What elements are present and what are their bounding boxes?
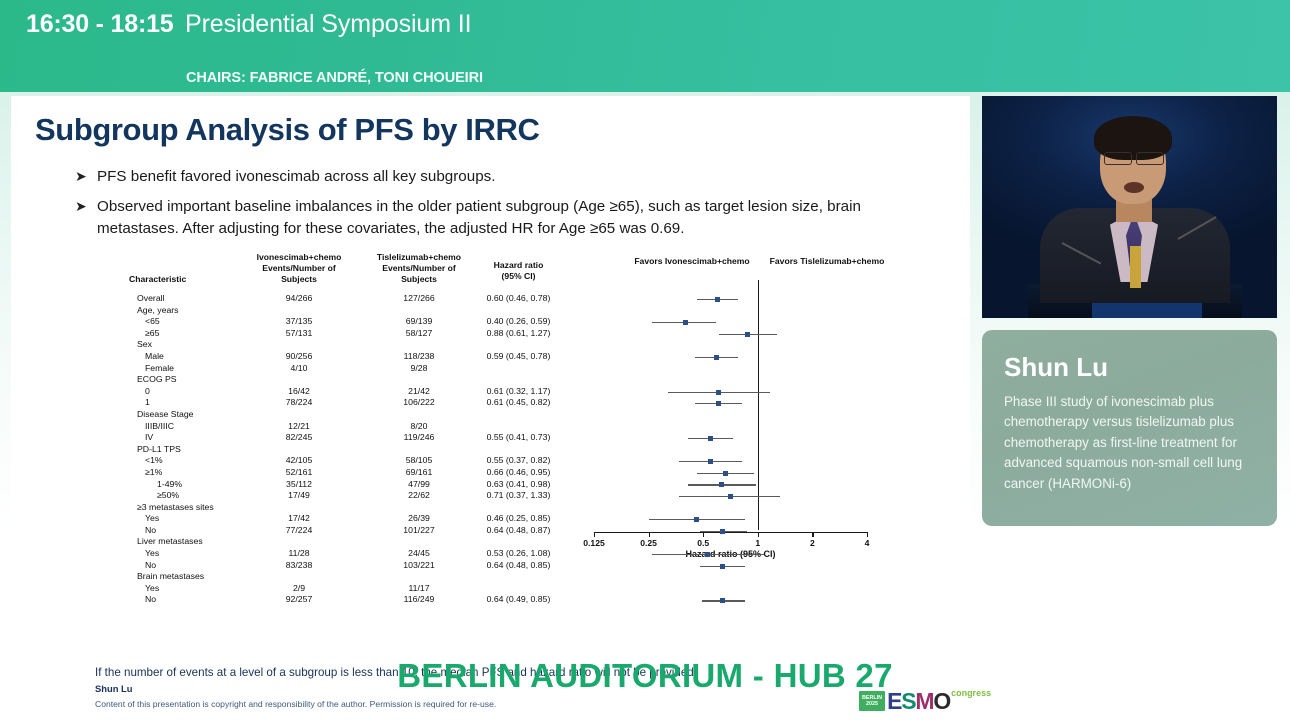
row-tislelizumab-events: 69/161 (359, 467, 479, 477)
row-tislelizumab-events: 118/238 (359, 351, 479, 361)
row-characteristic: <1% (145, 455, 163, 465)
x-axis-tick (867, 532, 868, 537)
slide-bullet-1: ➤ PFS benefit favored ivonescimab across… (97, 166, 937, 188)
table-row: No92/257116/2490.64 (0.49, 0.85) (11, 594, 970, 606)
row-ivonescimab-events: 94/266 (239, 293, 359, 303)
hazard-ratio-point (728, 494, 733, 499)
row-tislelizumab-events: 58/127 (359, 328, 479, 338)
row-hazard-ratio: 0.64 (0.48, 0.87) (466, 525, 571, 535)
row-tislelizumab-events: 22/62 (359, 490, 479, 500)
row-tislelizumab-events: 127/266 (359, 293, 479, 303)
row-tislelizumab-events: 116/249 (359, 594, 479, 604)
row-ivonescimab-events: 52/161 (239, 467, 359, 477)
row-hazard-ratio: 0.60 (0.46, 0.78) (466, 293, 571, 303)
row-characteristic: PD-L1 TPS (137, 444, 181, 454)
speaker-glasses-right (1136, 152, 1164, 165)
row-ivonescimab-events: 90/256 (239, 351, 359, 361)
row-characteristic: ≥1% (145, 467, 162, 477)
x-axis (594, 532, 867, 533)
row-tislelizumab-events: 103/221 (359, 560, 479, 570)
row-hazard-ratio: 0.55 (0.37, 0.82) (466, 455, 571, 465)
row-tislelizumab-events: 69/139 (359, 316, 479, 326)
row-hazard-ratio: 0.53 (0.26, 1.08) (466, 548, 571, 558)
row-characteristic: Female (145, 363, 174, 373)
row-characteristic: Sex (137, 339, 152, 349)
row-hazard-ratio: 0.71 (0.37, 1.33) (466, 490, 571, 500)
x-axis-tick-label: 2 (810, 538, 815, 548)
x-axis-tick-label: 1 (755, 538, 760, 548)
hazard-ratio-point (720, 529, 725, 534)
row-characteristic: 0 (145, 386, 150, 396)
session-header: 16:30 - 18:15 Presidential Symposium II … (0, 0, 1290, 92)
row-hazard-ratio: 0.88 (0.61, 1.27) (466, 328, 571, 338)
speaker-glasses-left (1104, 152, 1132, 165)
bullet-text: PFS benefit favored ivonescimab across a… (97, 168, 495, 185)
row-ivonescimab-events: 92/257 (239, 594, 359, 604)
row-characteristic: Disease Stage (137, 409, 194, 419)
favors-right-label: Favors Tislelizumab+chemo (747, 256, 907, 266)
row-ivonescimab-events: 4/10 (239, 363, 359, 373)
hazard-ratio-point (705, 552, 710, 557)
row-characteristic: <65 (145, 316, 160, 326)
col-header-ivonescimab: Ivonescimab+chemo Events/Number of Subje… (239, 252, 359, 285)
forest-table-header: Characteristic Ivonescimab+chemo Events/… (11, 252, 571, 292)
hazard-ratio-point (720, 598, 725, 603)
row-characteristic: 1-49% (157, 479, 182, 489)
row-hazard-ratio: 0.64 (0.49, 0.85) (466, 594, 571, 604)
speaker-talk-description: Phase III study of ivonescimab plus chem… (1004, 392, 1255, 494)
row-tislelizumab-events: 101/227 (359, 525, 479, 535)
row-ivonescimab-events: 42/105 (239, 455, 359, 465)
row-hazard-ratio: 0.64 (0.48, 0.85) (466, 560, 571, 570)
row-tislelizumab-events: 11/17 (359, 583, 479, 593)
row-tislelizumab-events: 21/42 (359, 386, 479, 396)
x-axis-tick-label: 4 (865, 538, 870, 548)
hazard-ratio-point (708, 436, 713, 441)
row-ivonescimab-events: 82/245 (239, 432, 359, 442)
forest-plot-figure: Characteristic Ivonescimab+chemo Events/… (11, 252, 970, 562)
col-header-tislelizumab: Tislelizumab+chemo Events/Number of Subj… (359, 252, 479, 285)
col-header-hazard-ratio: Hazard ratio (95% CI) (466, 260, 571, 282)
row-characteristic: No (145, 594, 156, 604)
row-hazard-ratio: 0.66 (0.46, 0.95) (466, 467, 571, 477)
speaker-info-card: Shun Lu Phase III study of ivonescimab p… (982, 330, 1277, 526)
row-characteristic: 1 (145, 397, 150, 407)
venue-banner: BERLIN AUDITORIUM - HUB 27 (0, 645, 1290, 707)
row-ivonescimab-events: 37/135 (239, 316, 359, 326)
podium-screen-shape (1092, 302, 1202, 318)
speaker-name: Shun Lu (1004, 352, 1255, 383)
favors-left-label: Favors Ivonescimab+chemo (617, 256, 767, 266)
row-ivonescimab-events: 57/131 (239, 328, 359, 338)
row-characteristic: No (145, 560, 156, 570)
reference-line (758, 280, 760, 530)
table-row: Yes2/911/17 (11, 583, 970, 595)
row-tislelizumab-events: 47/99 (359, 479, 479, 489)
bullet-text: Observed important baseline imbalances i… (97, 198, 861, 237)
row-hazard-ratio: 0.61 (0.32, 1.17) (466, 386, 571, 396)
row-characteristic: Male (145, 351, 164, 361)
row-tislelizumab-events: 8/20 (359, 421, 479, 431)
row-tislelizumab-events: 26/39 (359, 513, 479, 523)
row-ivonescimab-events: 12/21 (239, 421, 359, 431)
row-ivonescimab-events: 35/112 (239, 479, 359, 489)
row-characteristic: Overall (137, 293, 165, 303)
venue-name: BERLIN AUDITORIUM - HUB 27 (397, 657, 892, 695)
row-characteristic: Yes (145, 583, 159, 593)
forest-plot-axes: Hazard ratio (95% CI) 0.1250.250.5124 (594, 280, 867, 542)
row-characteristic: Liver metastases (137, 536, 203, 546)
row-hazard-ratio: 0.63 (0.41, 0.98) (466, 479, 571, 489)
row-hazard-ratio: 0.55 (0.41, 0.73) (466, 432, 571, 442)
row-hazard-ratio: 0.59 (0.45, 0.78) (466, 351, 571, 361)
hazard-ratio-point (723, 471, 728, 476)
row-characteristic: Yes (145, 513, 159, 523)
hazard-ratio-point (714, 355, 719, 360)
hazard-ratio-point (694, 517, 699, 522)
row-tislelizumab-events: 106/222 (359, 397, 479, 407)
row-characteristic: ECOG PS (137, 374, 177, 384)
x-axis-tick (703, 532, 704, 537)
speaker-mouth-shape (1124, 182, 1144, 193)
table-row: Brain metastases (11, 571, 970, 583)
speaker-lanyard-shape (1130, 246, 1141, 288)
x-axis-tick-label: 0.5 (697, 538, 709, 548)
hazard-ratio-point (745, 332, 750, 337)
x-axis-tick (594, 532, 595, 537)
x-axis-tick (812, 532, 813, 537)
row-ivonescimab-events: 16/42 (239, 386, 359, 396)
row-ivonescimab-events: 78/224 (239, 397, 359, 407)
hazard-ratio-point (720, 564, 725, 569)
row-characteristic: IV (145, 432, 153, 442)
row-characteristic: Brain metastases (137, 571, 204, 581)
slide-bullet-2: ➤ Observed important baseline imbalances… (97, 196, 942, 239)
col-header-characteristic: Characteristic (129, 274, 239, 285)
x-axis-tick-label: 0.125 (583, 538, 605, 548)
hazard-ratio-point (683, 320, 688, 325)
row-ivonescimab-events: 17/42 (239, 513, 359, 523)
x-axis-tick (758, 532, 759, 537)
row-ivonescimab-events: 83/238 (239, 560, 359, 570)
row-hazard-ratio: 0.46 (0.25, 0.85) (466, 513, 571, 523)
row-ivonescimab-events: 11/28 (239, 548, 359, 558)
row-hazard-ratio: 0.40 (0.26, 0.59) (466, 316, 571, 326)
hazard-ratio-point (719, 482, 724, 487)
row-characteristic: IIIB/IIIC (145, 421, 174, 431)
row-characteristic: Age, years (137, 305, 179, 315)
session-chairs: CHAIRS: FABRICE ANDRÉ, TONI CHOUEIRI (186, 70, 483, 86)
hazard-ratio-point (715, 297, 720, 302)
x-axis-tick (649, 532, 650, 537)
speaker-video[interactable] (982, 96, 1277, 318)
bullet-arrow-icon: ➤ (75, 167, 87, 187)
row-characteristic: No (145, 525, 156, 535)
row-tislelizumab-events: 58/105 (359, 455, 479, 465)
row-ivonescimab-events: 17/49 (239, 490, 359, 500)
row-ivonescimab-events: 77/224 (239, 525, 359, 535)
row-characteristic: Yes (145, 548, 159, 558)
session-title: Presidential Symposium II (185, 10, 472, 39)
hazard-ratio-point (716, 390, 721, 395)
table-row: No83/238103/2210.64 (0.48, 0.85) (11, 560, 970, 572)
row-hazard-ratio: 0.61 (0.45, 0.82) (466, 397, 571, 407)
hazard-ratio-point (716, 401, 721, 406)
row-characteristic: ≥3 metastases sites (137, 502, 214, 512)
row-tislelizumab-events: 24/45 (359, 548, 479, 558)
presentation-slide: Subgroup Analysis of PFS by IRRC ➤ PFS b… (11, 96, 970, 638)
row-characteristic: ≥65 (145, 328, 159, 338)
row-characteristic: ≥50% (157, 490, 179, 500)
row-ivonescimab-events: 2/9 (239, 583, 359, 593)
row-tislelizumab-events: 119/246 (359, 432, 479, 442)
bullet-arrow-icon: ➤ (75, 197, 87, 217)
session-time: 16:30 - 18:15 (26, 10, 174, 39)
slide-title: Subgroup Analysis of PFS by IRRC (35, 112, 539, 148)
hazard-ratio-point (708, 459, 713, 464)
row-tislelizumab-events: 9/28 (359, 363, 479, 373)
x-axis-tick-label: 0.25 (640, 538, 657, 548)
